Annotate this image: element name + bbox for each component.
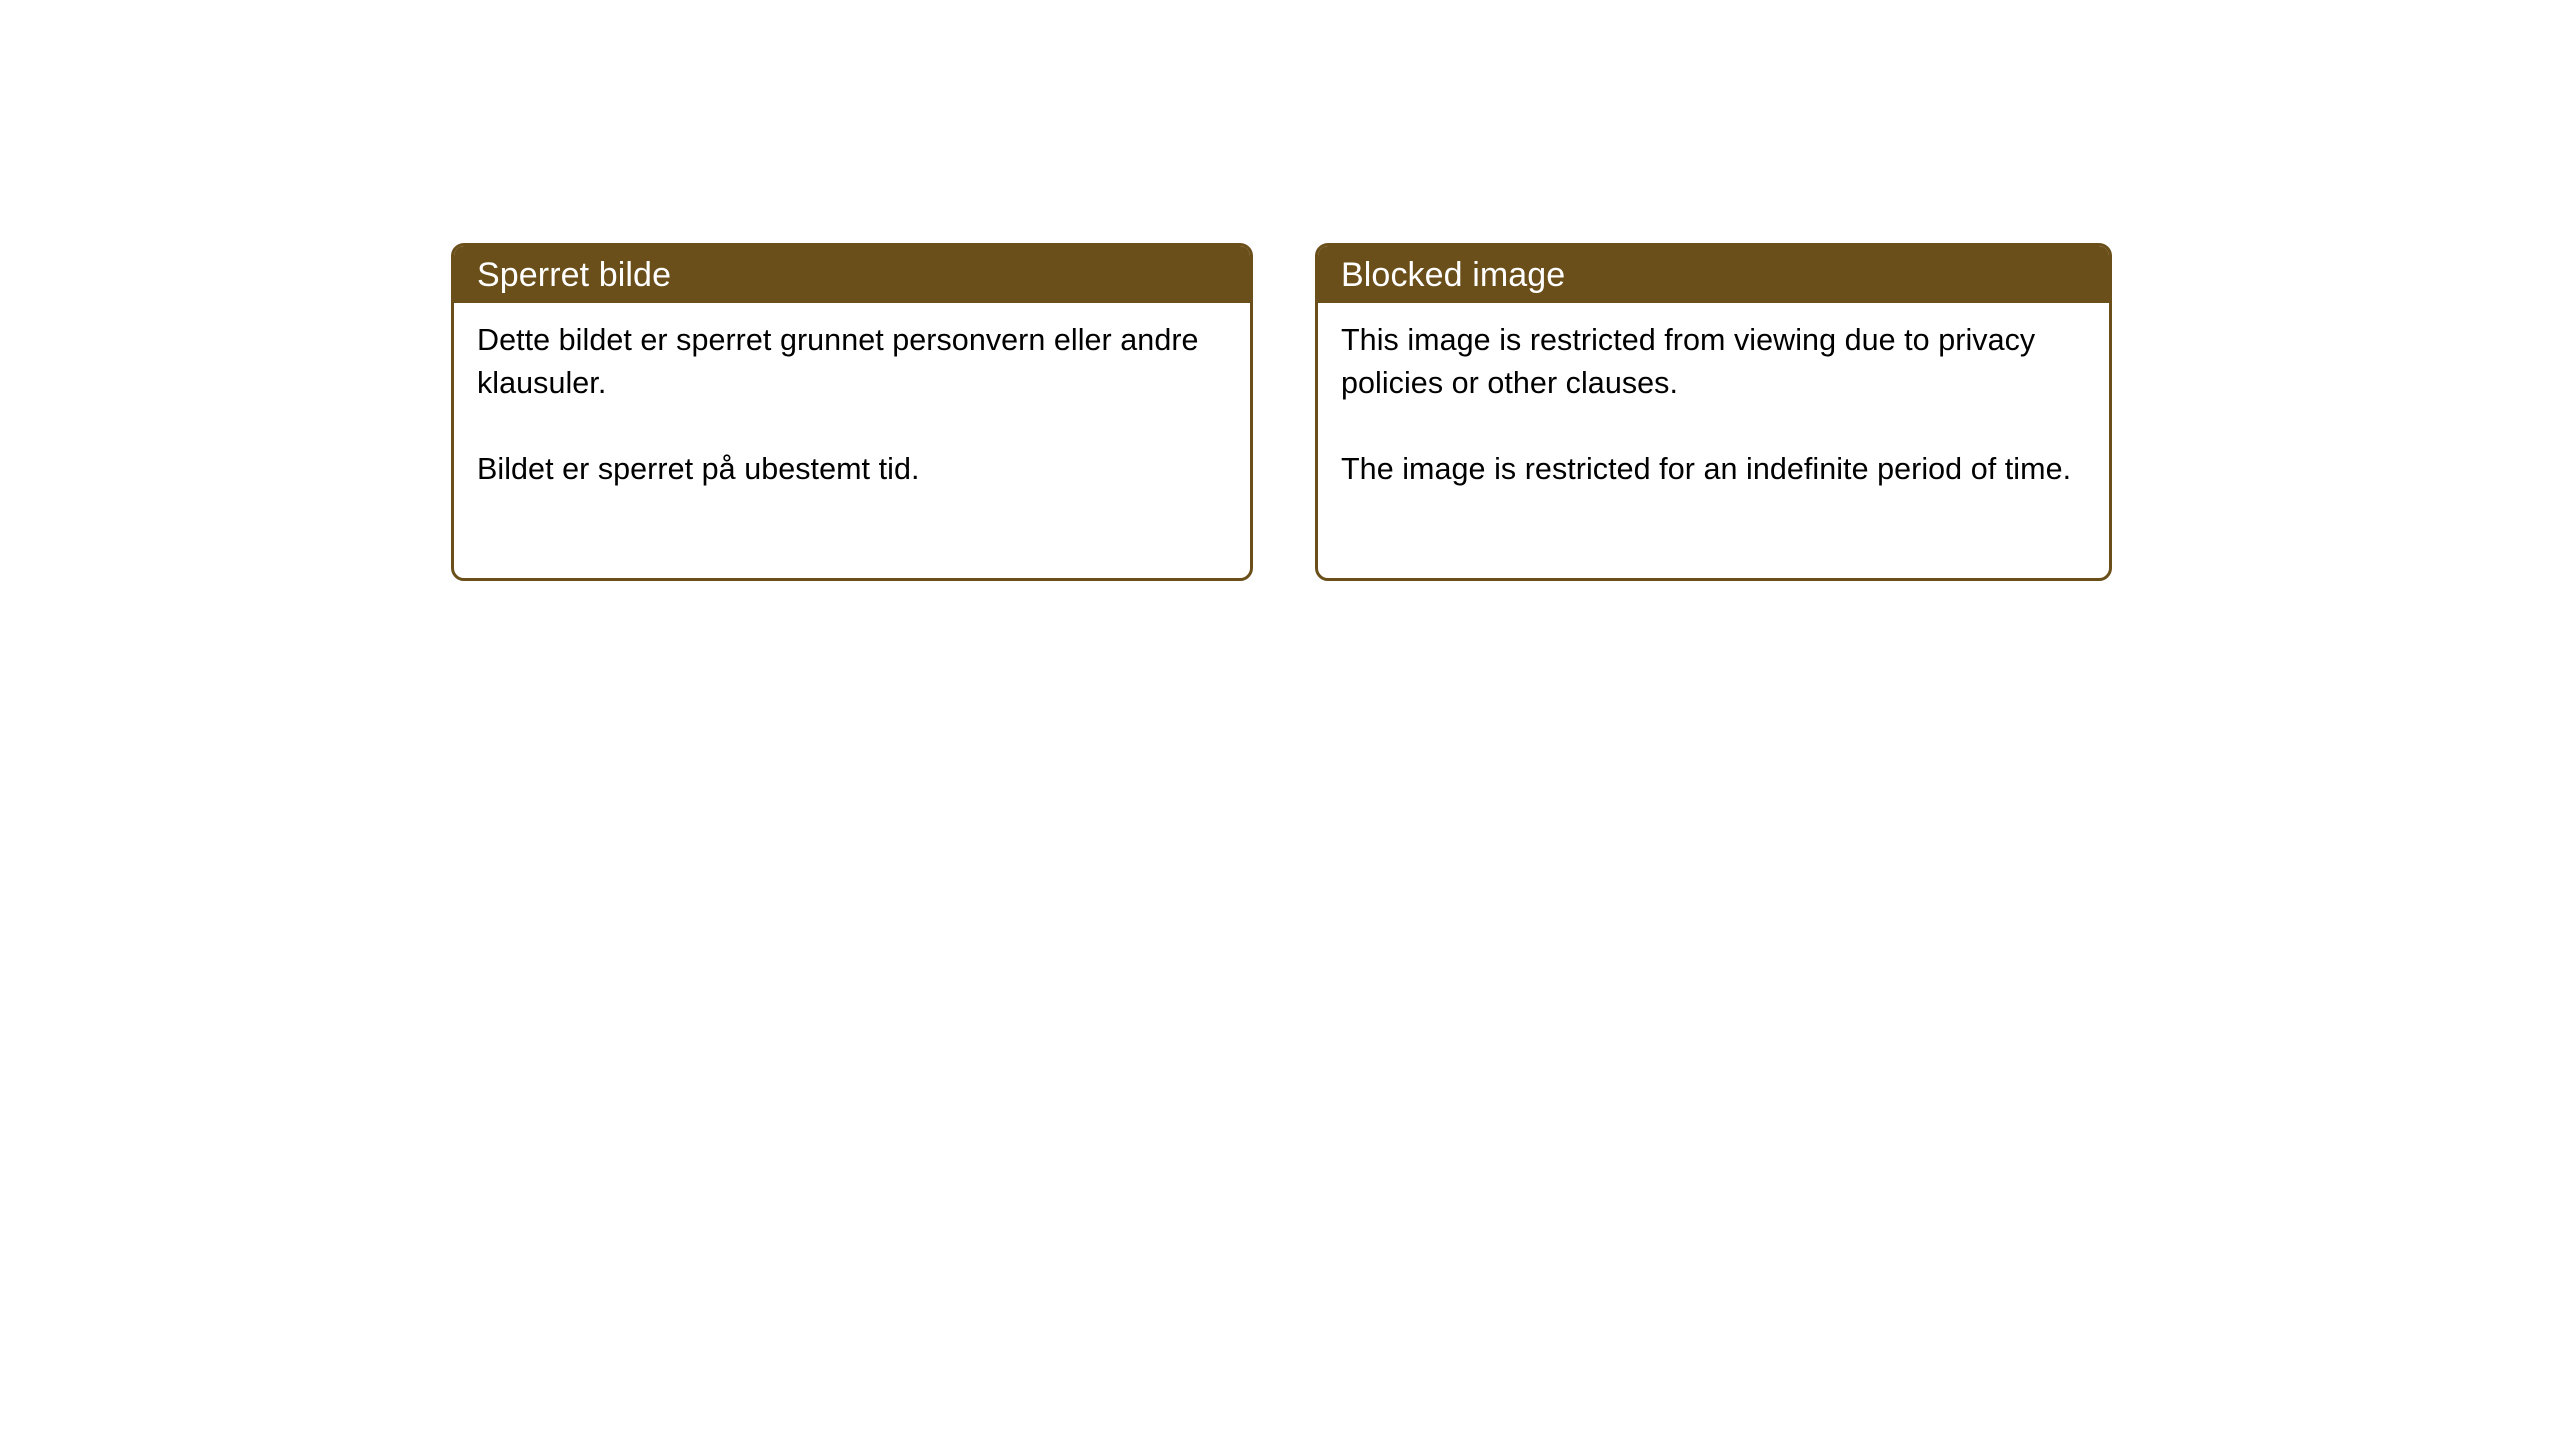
card-paragraph-reason-norwegian: Dette bildet er sperret grunnet personve… <box>477 319 1230 405</box>
card-title-english: Blocked image <box>1341 256 1565 294</box>
card-title-norwegian: Sperret bilde <box>477 256 671 294</box>
card-paragraph-duration-english: The image is restricted for an indefinit… <box>1341 448 2089 491</box>
card-body-english: This image is restricted from viewing du… <box>1318 303 2109 491</box>
card-paragraph-reason-english: This image is restricted from viewing du… <box>1341 319 2089 405</box>
blocked-image-card-english: Blocked image This image is restricted f… <box>1315 243 2112 581</box>
card-header-norwegian: Sperret bilde <box>454 246 1250 303</box>
card-header-english: Blocked image <box>1318 246 2109 303</box>
page-canvas: Sperret bilde Dette bildet er sperret gr… <box>0 0 2560 1440</box>
card-paragraph-duration-norwegian: Bildet er sperret på ubestemt tid. <box>477 448 1230 491</box>
card-body-norwegian: Dette bildet er sperret grunnet personve… <box>454 303 1250 491</box>
blocked-image-card-norwegian: Sperret bilde Dette bildet er sperret gr… <box>451 243 1253 581</box>
